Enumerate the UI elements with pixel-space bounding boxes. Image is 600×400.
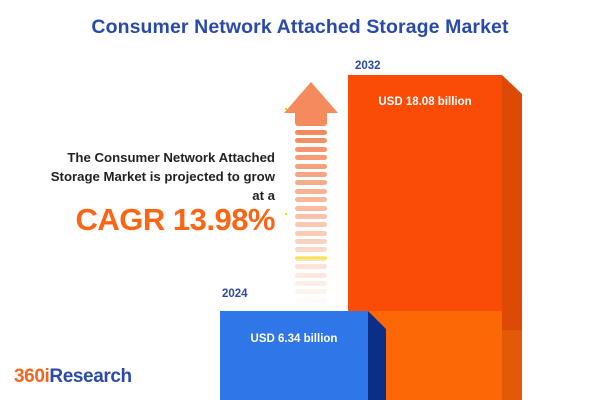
arrow-stripe — [295, 239, 327, 244]
bar-2032-side-lower-segment — [502, 330, 522, 400]
arrow-neck — [295, 113, 327, 126]
arrow-stripe — [295, 231, 327, 236]
logo-text-blue: Research — [49, 366, 131, 387]
arrow-yellow-tick — [295, 257, 327, 259]
arrow-stripe — [295, 172, 327, 177]
cagr-value: CAGR 13.98% — [10, 202, 275, 238]
arrow-stripe — [295, 147, 327, 152]
arrow-stripe — [295, 222, 327, 227]
arrow-stripe — [295, 130, 327, 135]
arrow-stripe — [295, 273, 327, 278]
arrow-stripe — [295, 197, 327, 202]
bar-2032-top-bevel — [502, 75, 522, 94]
arrow-stripe — [295, 214, 327, 219]
bar-2024-value-label: USD 6.34 billion — [220, 333, 368, 345]
arrow-head — [284, 82, 338, 113]
arrow-stripe — [295, 180, 327, 185]
arrow-yellow-dot-lower — [285, 213, 287, 215]
brand-logo: 360iResearch — [14, 366, 132, 388]
logo-text-orange: 360i — [14, 366, 49, 387]
bar-2024-top-bevel — [368, 311, 386, 329]
infographic-canvas: Consumer Network Attached Storage Market… — [0, 0, 600, 400]
statement-line-3: at a — [252, 188, 275, 203]
arrow-stripe — [295, 206, 327, 211]
year-label-2024: 2024 — [222, 288, 248, 300]
arrow-stripe-group — [295, 130, 327, 290]
arrow-stripe — [295, 264, 327, 269]
arrow-stripe — [295, 298, 327, 303]
arrow-stripe — [295, 164, 327, 169]
statement-line-1: The Consumer Network Attached — [67, 150, 275, 165]
arrow-stripe — [295, 247, 327, 252]
bar-2032-value-label: USD 18.08 billion — [348, 96, 502, 108]
arrow-stripe — [295, 155, 327, 160]
bar-2024: USD 6.34 billion — [220, 311, 386, 400]
arrow-yellow-dot-upper — [285, 108, 287, 110]
growth-statement: The Consumer Network Attached Storage Ma… — [10, 148, 275, 205]
upward-growth-arrow-icon — [284, 82, 338, 290]
year-label-2032: 2032 — [355, 60, 381, 72]
arrow-stripe — [295, 138, 327, 143]
statement-line-2: Storage Market is projected to grow — [51, 169, 275, 184]
bar-2024-front-face — [220, 311, 368, 400]
page-title: Consumer Network Attached Storage Market — [0, 16, 600, 39]
arrow-stripe — [295, 289, 327, 294]
arrow-stripe — [295, 189, 327, 194]
bar-2024-side-face — [368, 329, 386, 400]
arrow-stripe — [295, 281, 327, 286]
